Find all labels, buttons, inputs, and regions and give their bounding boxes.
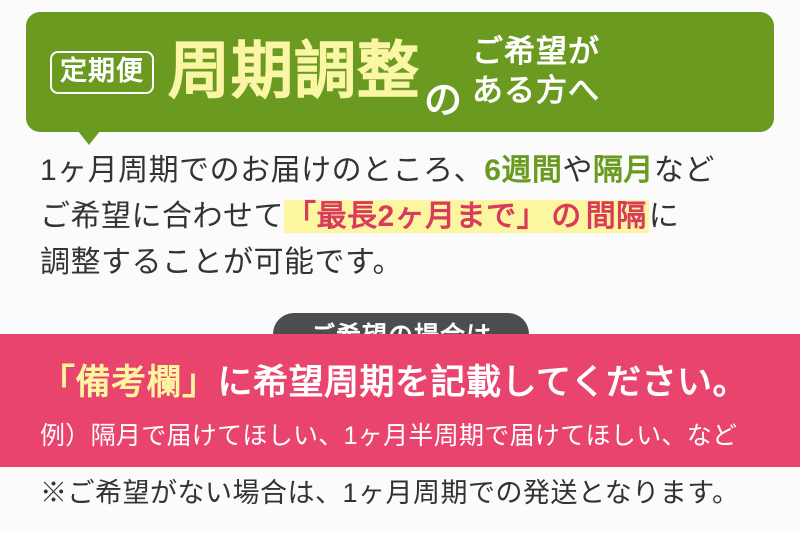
subscription-badge: 定期便 [50,51,154,94]
footer-note: ※ご希望がない場合は、1ヶ月周期での発送となります。 [40,480,780,507]
description-line-1: 1ヶ月周期でのお届けのところ、6週間や隔月など [40,148,770,194]
desc-1a: 1ヶ月周期でのお届けのところ、 [40,154,484,187]
banner-subtitle-line1: ご希望が [472,33,600,72]
banner-tail-arrow [78,131,100,145]
desc-2c: の [549,200,584,233]
description-paragraph: 1ヶ月周期でのお届けのところ、6週間や隔月など ご希望に合わせて「最長2ヶ月まで… [40,148,770,286]
desc-1b: 6週間 [484,154,562,187]
promo-page: 定期便 周期調整 の ご希望が ある方へ 1ヶ月周期でのお届けのところ、6週間や… [0,0,800,533]
banner-title: 周期調整 [168,41,420,103]
desc-2d: 間隔 [584,200,649,233]
banner-particle: の [424,82,462,132]
instruction-d: を記載してください。 [395,363,748,402]
desc-2a: ご希望に合わせて [40,200,284,233]
instruction-remarks-field: 「備考欄」 [40,363,218,402]
instruction-c: 希望周期 [253,363,395,402]
banner-subtitle-line2: ある方へ [472,72,600,111]
description-line-3: 調整することが可能です。 [40,240,770,286]
desc-1c: や [562,154,593,187]
desc-1e: など [654,154,715,187]
desc-1d: 隔月 [593,154,654,187]
description-line-2: ご希望に合わせて「最長2ヶ月まで」の間隔に [40,194,770,240]
instruction-headline: 「備考欄」に希望周期を記載してください。 [40,365,780,400]
instruction-example: 例）隔月で届けてほしい、1ヶ月半周期で届けてほしい、など [40,424,780,449]
header-banner: 定期便 周期調整 の ご希望が ある方へ [26,12,774,132]
desc-2b: 「最長2ヶ月まで」 [284,200,549,233]
desc-2e: に [649,200,680,233]
instruction-b: に [218,363,254,402]
banner-subtitle: ご希望が ある方へ [472,33,600,111]
